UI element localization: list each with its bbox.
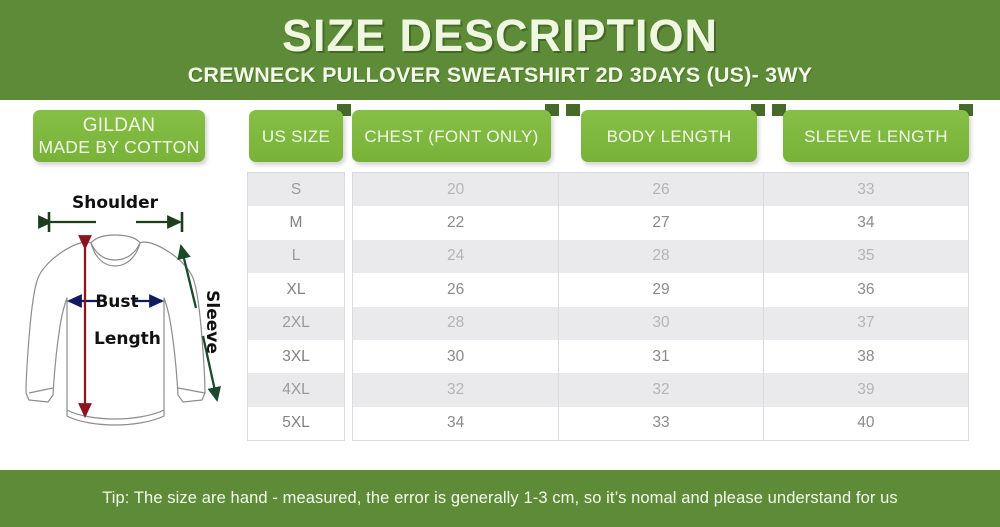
cell-sleeve-length: 37 [764,307,968,340]
page-subtitle: CREWNECK PULLOVER SWEATSHIRT 2D 3DAYS (U… [0,60,1000,87]
column-header-body-length-label: BODY LENGTH [607,126,732,147]
bust-label: Bust [95,292,138,312]
brand-pill: GILDAN MADE BY COTTON [33,110,205,162]
measurements-table: 20 26 33 22 27 34 24 28 35 26 29 36 28 3… [352,172,969,441]
brand-material: MADE BY COTTON [38,137,199,158]
cell-body-length: 32 [559,373,763,406]
table-row: 34 33 40 [353,407,968,440]
shoulder-label: Shoulder [72,193,159,213]
cell-sleeve-length: 33 [764,173,968,206]
column-header-chest: CHEST (FONT ONLY) [352,110,551,162]
title-band: SIZE DESCRIPTION CREWNECK PULLOVER SWEAT… [0,0,1000,100]
column-header-body-length: BODY LENGTH [581,110,757,162]
pill-notch [566,104,580,116]
column-header-chest-label: CHEST (FONT ONLY) [364,126,538,147]
cell-sleeve-length: 35 [764,240,968,273]
cell-chest: 30 [353,340,559,373]
cell-chest: 34 [353,407,559,440]
cell-sleeve-length: 36 [764,273,968,306]
column-header-sleeve-length-label: SLEEVE LENGTH [804,126,948,147]
cell-body-length: 28 [559,240,763,273]
table-row: 32 32 39 [353,373,968,406]
tip-text: Tip: The size are hand - measured, the e… [102,489,898,508]
table-row: 22 27 34 [353,206,968,239]
size-column: S M L XL 2XL 3XL 4XL 5XL [247,172,345,441]
size-chart-page: SIZE DESCRIPTION CREWNECK PULLOVER SWEAT… [0,0,1000,527]
cell-body-length: 26 [559,173,763,206]
size-cell: XL [248,273,344,306]
cell-chest: 32 [353,373,559,406]
cell-sleeve-length: 34 [764,206,968,239]
table-row: 30 31 38 [353,340,968,373]
size-cell: 3XL [248,340,344,373]
cell-sleeve-length: 40 [764,407,968,440]
cell-chest: 22 [353,206,559,239]
table-row: 26 29 36 [353,273,968,306]
tip-bar: Tip: The size are hand - measured, the e… [0,470,1000,527]
cell-chest: 24 [353,240,559,273]
table-row: 20 26 33 [353,173,968,206]
cell-sleeve-length: 39 [764,373,968,406]
size-cell: 4XL [248,373,344,406]
size-cell: M [248,206,344,239]
cell-sleeve-length: 38 [764,340,968,373]
brand-name: GILDAN [83,114,156,137]
cell-body-length: 30 [559,307,763,340]
column-header-size: US SIZE [249,110,343,162]
size-cell: 5XL [248,407,344,440]
cell-body-length: 33 [559,407,763,440]
sleeve-label: Sleeve [202,290,222,354]
size-cell: S [248,173,344,206]
shirt-diagram: Shoulder Bust Length Sleeve [18,188,243,444]
cell-chest: 20 [353,173,559,206]
cell-body-length: 31 [559,340,763,373]
cell-chest: 26 [353,273,559,306]
cell-body-length: 29 [559,273,763,306]
table-row: 24 28 35 [353,240,968,273]
page-title: SIZE DESCRIPTION [0,0,1000,60]
size-cell: L [248,240,344,273]
column-header-size-label: US SIZE [262,126,330,147]
column-header-sleeve-length: SLEEVE LENGTH [783,110,969,162]
length-label: Length [94,329,161,349]
cell-chest: 28 [353,307,559,340]
table-row: 28 30 37 [353,307,968,340]
size-cell: 2XL [248,307,344,340]
cell-body-length: 27 [559,206,763,239]
